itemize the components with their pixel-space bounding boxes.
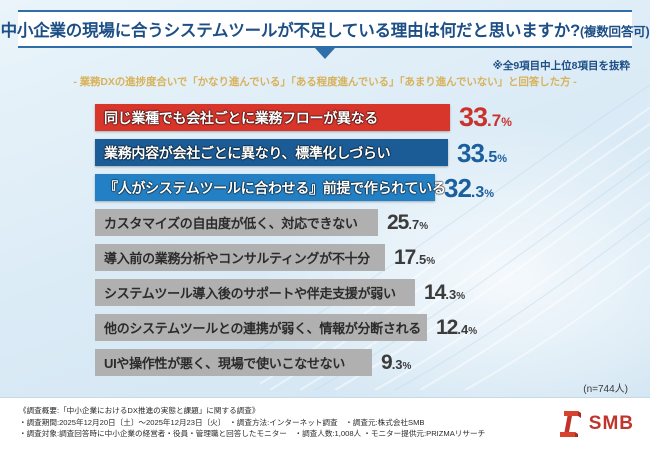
sample-size-note: (n=744人) (583, 380, 628, 395)
footer-bar: 《調査概要:「中小企業におけるDX推進の実態と課題」に関する調査》 ・調査期間:… (0, 397, 650, 450)
page-title-main: 中小企業の現場に合うシステムツールが不足している理由は何だと思いますか? (1, 22, 580, 40)
bar-value-1: 33.7% (459, 104, 512, 131)
bar-chart: 同じ業種でも会社ごとに業務フローが異なる 33.7% 業務内容が会社ごとに異なり… (95, 100, 565, 380)
bar-value-3-frac: .3 (471, 184, 484, 201)
bar-value-8-pct: % (403, 361, 412, 372)
bar-label-2: 業務内容が会社ごとに異なり、標準化しづらい (104, 143, 390, 163)
bar-2: 業務内容が会社ごとに異なり、標準化しづらい (95, 139, 448, 166)
survey-overview-line2: ・調査期間:2025年12月20日〔土〕〜2025年12月23日〔火〕 ・調査方… (19, 417, 485, 429)
survey-overview-line3: ・調査対象:調査回答時に中小企業の経営者・役員・管理職と回答したモニター ・調査… (19, 428, 485, 440)
bar-label-4: カスタマイズの自由度が低く、対応できない (104, 213, 358, 232)
bar-value-6-frac: .3 (445, 287, 456, 302)
bar-value-8-frac: .3 (392, 357, 403, 372)
bar-value-7-pct: % (468, 326, 477, 337)
page-title-sub: (複数回答可) (580, 25, 649, 39)
bar-value-8-whole: 9 (381, 351, 392, 374)
bar-value-2-frac: .5 (484, 149, 497, 166)
bar-value-2-whole: 33 (457, 138, 484, 168)
bar-value-1-whole: 33 (459, 102, 487, 132)
bar-label-5: 導入前の業務分析やコンサルティングが不十分 (104, 248, 370, 267)
bar-7: 他のシステムツールとの連携が弱く、情報が分断される (95, 314, 427, 341)
bar-value-5-frac: .5 (415, 252, 426, 267)
bar-value-5-pct: % (426, 256, 435, 267)
bar-label-6: システムツール導入後のサポートや伴走支援が弱い (104, 283, 396, 302)
bar-value-4: 25.7% (387, 212, 428, 233)
bar-label-7: 他のシステムツールとの連携が弱く、情報が分断される (104, 318, 421, 337)
bar-value-2: 33.5% (457, 140, 507, 166)
bar-value-6-whole: 14 (424, 281, 445, 304)
excerpt-note: ※全9項目中上位8項目を抜粋 (493, 58, 630, 73)
chart-row: 業務内容が会社ごとに異なり、標準化しづらい 33.5% (95, 135, 565, 170)
bar-value-1-frac: .7 (487, 111, 501, 130)
bar-label-8: UIや操作性が悪く、現場で使いこなせない (104, 353, 345, 372)
bar-value-1-pct: % (501, 115, 512, 129)
chart-row: カスタマイズの自由度が低く、対応できない 25.7% (95, 205, 565, 240)
chart-row: システムツール導入後のサポートや伴走支援が弱い 14.3% (95, 275, 565, 310)
bar-1: 同じ業種でも会社ごとに業務フローが異なる (95, 104, 450, 131)
bar-value-2-pct: % (497, 153, 507, 165)
smb-logo-icon (558, 410, 584, 438)
bar-label-3: 『人がシステムツールに合わせる』前提で作られている (104, 178, 446, 198)
down-arrow-icon (315, 48, 335, 59)
chart-row: 他のシステムツールとの連携が弱く、情報が分断される 12.4% (95, 310, 565, 345)
bar-value-7-frac: .4 (457, 322, 468, 337)
page-title: 中小企業の現場に合うシステムツールが不足している理由は何だと思いますか?(複数回… (1, 17, 650, 41)
bar-value-7-whole: 12 (436, 316, 457, 339)
survey-overview: 《調査概要:「中小企業におけるDX推進の実態と課題」に関する調査》 ・調査期間:… (19, 405, 485, 440)
bar-value-4-whole: 25 (387, 211, 408, 234)
chart-row: 導入前の業務分析やコンサルティングが不十分 17.5% (95, 240, 565, 275)
bar-value-3-pct: % (484, 188, 494, 200)
bar-value-7: 12.4% (436, 317, 477, 338)
chart-row: 同じ業種でも会社ごとに業務フローが異なる 33.7% (95, 100, 565, 135)
bar-value-6-pct: % (456, 291, 465, 302)
bar-value-6: 14.3% (424, 282, 465, 303)
bar-value-3: 32.3% (444, 175, 494, 201)
bar-5: 導入前の業務分析やコンサルティングが不十分 (95, 244, 385, 271)
bar-8: UIや操作性が悪く、現場で使いこなせない (95, 349, 372, 376)
condition-note: - 業務DXの進捗度合いで「かなり進んでいる」「ある程度進んでいる」「あまり進ん… (0, 74, 650, 89)
bar-3: 『人がシステムツールに合わせる』前提で作られている (95, 174, 435, 201)
infographic-canvas: 中小企業の現場に合うシステムツールが不足している理由は何だと思いますか?(複数回… (0, 0, 650, 450)
bar-value-4-pct: % (419, 221, 428, 232)
bar-value-5-whole: 17 (394, 246, 415, 269)
chart-row: 『人がシステムツールに合わせる』前提で作られている 32.3% (95, 170, 565, 205)
bar-value-8: 9.3% (381, 352, 411, 373)
bar-6: システムツール導入後のサポートや伴走支援が弱い (95, 279, 415, 306)
bar-value-5: 17.5% (394, 247, 435, 268)
bar-4: カスタマイズの自由度が低く、対応できない (95, 209, 378, 236)
smb-logo: SMB (558, 410, 634, 438)
bar-value-4-frac: .7 (408, 217, 419, 232)
smb-logo-text: SMB (589, 413, 634, 435)
survey-overview-line1: 《調査概要:「中小企業におけるDX推進の実態と課題」に関する調査》 (19, 405, 485, 417)
title-banner: 中小企業の現場に合うシステムツールが不足している理由は何だと思いますか?(複数回… (18, 10, 632, 48)
bar-value-3-whole: 32 (444, 173, 471, 203)
bar-label-1: 同じ業種でも会社ごとに業務フローが異なる (104, 108, 378, 128)
chart-row: UIや操作性が悪く、現場で使いこなせない 9.3% (95, 345, 565, 380)
